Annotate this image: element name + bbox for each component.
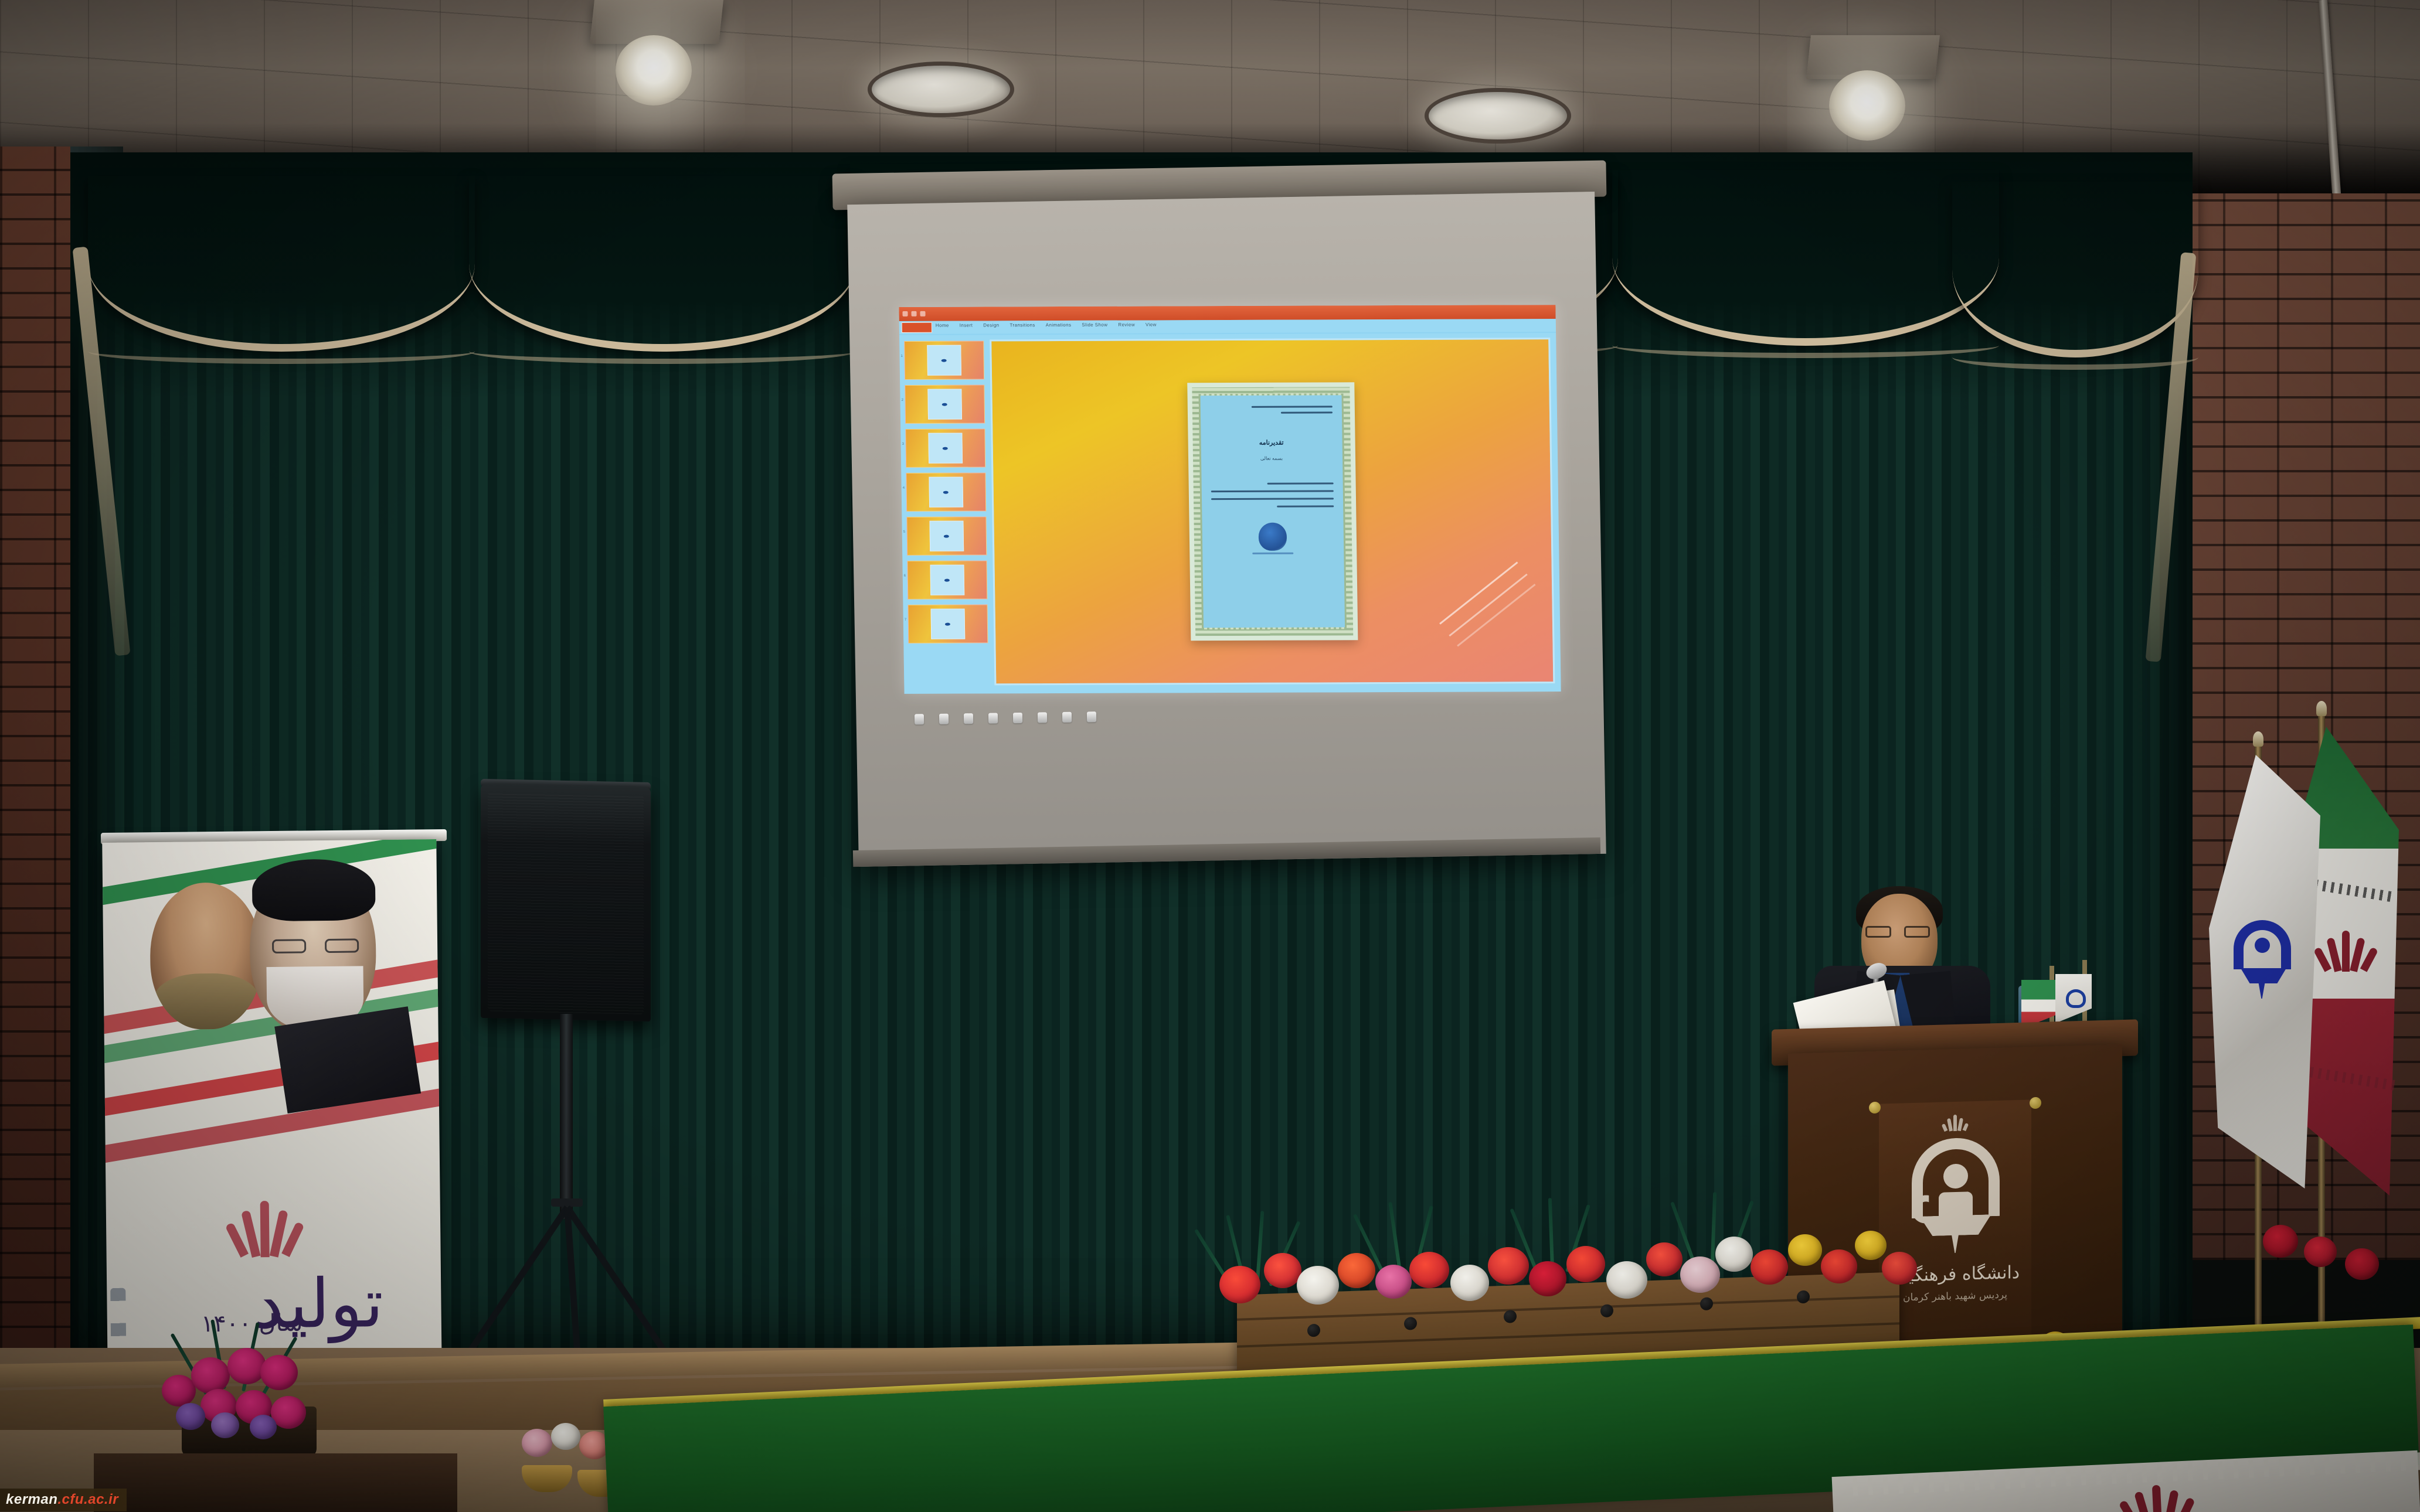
turban <box>252 859 376 921</box>
ribbon-tab[interactable]: Slide Show <box>1082 322 1107 328</box>
flag-pole-finial <box>2253 731 2263 747</box>
ceiling-spotlight-icon <box>1829 70 1905 141</box>
iran-emblem-small-icon <box>1942 1109 1969 1131</box>
soleimani-portrait <box>149 882 263 1030</box>
speaker-stand-collar <box>551 1198 583 1207</box>
certificate-title: تقدیرنامه <box>1210 437 1333 449</box>
ribbon-tab[interactable]: Design <box>983 322 999 328</box>
pot-bloom <box>2263 1225 2298 1258</box>
site-watermark: kerman.cfu.ac.ir <box>0 1489 127 1511</box>
left-flower-arrangement <box>135 1319 387 1453</box>
certificate-body-line <box>1267 482 1333 484</box>
app-icon[interactable] <box>1087 711 1096 722</box>
speaker-grille <box>488 792 644 1014</box>
thumbnail-seal-icon <box>943 491 949 493</box>
ribbon-tab[interactable]: View <box>1146 322 1157 327</box>
curtain-valance-swag <box>1952 182 2198 357</box>
browser-icon[interactable] <box>988 713 998 723</box>
chrome-icon[interactable] <box>1062 712 1072 723</box>
slide-thumbnail[interactable]: 6 <box>907 560 987 599</box>
thumbnail-certificate <box>930 608 966 639</box>
certificate-inner-page: تقدیرنامه بسمه تعالی <box>1200 395 1345 628</box>
thumbnail-seal-icon <box>944 534 949 537</box>
ribbon-tabs[interactable]: Home Insert Design Transitions Animation… <box>936 322 1157 328</box>
recessed-downlight-icon <box>868 62 1014 117</box>
start-icon[interactable] <box>915 714 924 724</box>
thumbnail-number: 5 <box>903 530 905 534</box>
media-icon[interactable] <box>1013 713 1022 723</box>
screen-glare-reflection <box>1439 561 1518 624</box>
thumbnail-certificate <box>930 564 965 595</box>
thumbnail-certificate <box>927 389 963 420</box>
iran-emblem-icon <box>2319 926 2373 972</box>
explorer-icon[interactable] <box>939 714 949 724</box>
drape-iran-emblem-icon <box>2122 1481 2194 1512</box>
ribbon-tab[interactable]: Insert <box>960 323 973 328</box>
recessed-downlight-icon <box>1425 88 1571 144</box>
word-icon[interactable] <box>964 713 973 724</box>
thumbnail-certificate <box>929 520 964 551</box>
thumbnail-seal-icon <box>943 447 948 449</box>
center-flower-arrangement <box>1208 1196 1929 1307</box>
active-slide-canvas[interactable]: تقدیرنامه بسمه تعالی <box>990 338 1555 685</box>
pot-bloom <box>2304 1237 2337 1267</box>
pot-bloom <box>551 1423 580 1450</box>
thumbnail-number: 2 <box>902 399 903 402</box>
slide-thumbnail[interactable]: 7 <box>908 604 988 643</box>
watermark-primary: kerman <box>6 1491 57 1508</box>
ribbon-tab[interactable]: Transitions <box>1010 322 1035 328</box>
iran-emblem-icon <box>232 1193 297 1258</box>
curtain-valance-swag <box>1612 170 1999 346</box>
file-tab-button[interactable] <box>902 322 932 333</box>
thumbnail-number: 7 <box>905 618 906 622</box>
slide-thumbnail[interactable]: 4 <box>906 472 986 511</box>
thumbnail-certificate <box>927 345 962 376</box>
powerpoint-icon[interactable] <box>1038 712 1047 723</box>
thumbnail-certificate <box>929 476 964 508</box>
auditorium-photograph: Home Insert Design Transitions Animation… <box>0 0 2420 1512</box>
certificate-header-line <box>1251 406 1332 407</box>
ceiling-spotlight-icon <box>616 35 692 105</box>
thumbnail-seal-icon <box>942 403 947 406</box>
slide-thumbnail[interactable]: 1 <box>904 340 984 379</box>
certificate-body-line <box>1211 498 1333 500</box>
glasses-icon <box>272 938 359 953</box>
curtain-valance-swag <box>469 176 856 352</box>
slide-thumbnail[interactable]: 3 <box>905 428 985 467</box>
side-table <box>94 1453 457 1512</box>
thumbnail-number: 1 <box>900 355 902 358</box>
minimize-icon[interactable] <box>902 311 908 316</box>
flag-pole-finial <box>2316 701 2327 716</box>
curtain-valance-swag <box>88 176 475 352</box>
certificate-header-line <box>1281 411 1333 413</box>
thumbnail-seal-icon <box>944 578 950 581</box>
speaker-stand-pole <box>560 1014 573 1219</box>
certificate-body-line <box>1211 490 1333 492</box>
thumbnail-number: 3 <box>902 442 904 446</box>
thumbnail-number: 6 <box>904 574 906 578</box>
powerpoint-workspace: 1 2 3 4 5 <box>899 333 1561 694</box>
ribbon-tab[interactable]: Animations <box>1046 322 1072 328</box>
slide-thumbnail[interactable]: 2 <box>905 384 985 423</box>
close-icon[interactable] <box>920 311 925 316</box>
pot-bloom <box>2345 1248 2379 1280</box>
certificate-subtitle: بسمه تعالی <box>1210 454 1333 463</box>
brick-wall-left <box>0 147 76 1377</box>
pa-loudspeaker <box>481 784 651 1021</box>
certificate-signature-line <box>1252 553 1293 554</box>
ribbon-tab[interactable]: Review <box>1118 322 1135 328</box>
projected-powerpoint-window[interactable]: Home Insert Design Transitions Animation… <box>899 305 1561 694</box>
university-flag-logo-icon <box>2228 920 2297 1002</box>
ribbon-tab[interactable]: Home <box>936 323 949 328</box>
slide-thumbnail[interactable]: 5 <box>906 516 987 555</box>
pot-bloom <box>522 1429 552 1457</box>
maximize-icon[interactable] <box>911 311 916 316</box>
slide-thumbnail-pane[interactable]: 1 2 3 4 5 <box>899 335 993 693</box>
certificate-seal-icon <box>1259 523 1287 551</box>
watermark-secondary: .cfu.ac.ir <box>57 1491 118 1508</box>
thumbnail-number: 4 <box>903 486 905 490</box>
certificate-document: تقدیرنامه بسمه تعالی <box>1187 382 1358 641</box>
window-controls[interactable] <box>902 308 943 319</box>
thumbnail-certificate <box>928 433 963 464</box>
thumbnail-seal-icon <box>945 622 950 625</box>
certificate-body-line <box>1277 505 1334 507</box>
speaker-glasses-icon <box>1865 926 1930 938</box>
thumbnail-seal-icon <box>942 359 947 362</box>
